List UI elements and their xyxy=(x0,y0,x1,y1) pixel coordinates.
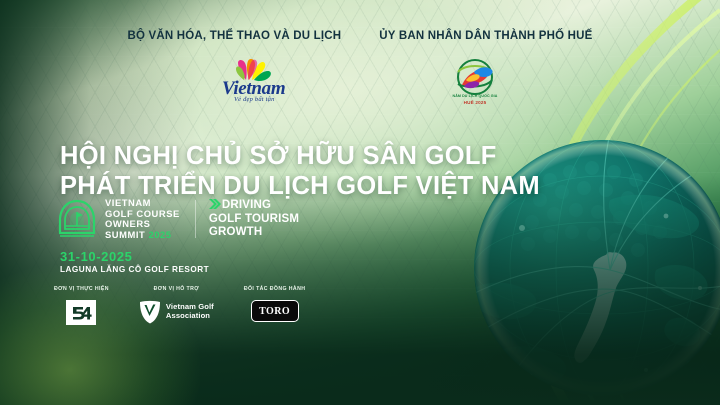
sponsor-group-organizer: ĐƠN VỊ THỰC HIỆN xyxy=(54,286,109,325)
vietnam-tourism-logo: Vietnam Vẻ đẹp bất tận xyxy=(214,58,314,106)
sponsor-section: ĐƠN VỊ THỰC HIỆN ĐƠN VỊ HỖ TRỢ Vietnam G… xyxy=(54,286,305,325)
event-tagline: DRIVING GOLF TOURISM GROWTH xyxy=(209,199,299,239)
organizer-logos: Vietnam Vẻ đẹp bất tận NĂM DU LỊCH QUỐC … xyxy=(0,58,720,110)
hue-logo-line2: HUẾ 2025 xyxy=(444,100,506,105)
golf-flag-arch-emblem xyxy=(58,199,96,239)
vga-shield-icon xyxy=(139,300,161,324)
event-poster: BỘ VĂN HÓA, THỂ THAO VÀ DU LỊCH ỦY BAN N… xyxy=(0,0,720,405)
sponsor-group-partner: ĐỐI TÁC ĐỒNG HÀNH TORO xyxy=(244,286,306,325)
tagline-line-1: DRIVING xyxy=(222,199,271,211)
vga-wordmark: Vietnam Golf Association xyxy=(166,303,214,320)
tagline-line-3: GROWTH xyxy=(209,226,299,239)
tagline-line-2: GOLF TOURISM xyxy=(209,213,299,226)
hue-logo-line1: NĂM DU LỊCH QUỐC GIA xyxy=(444,94,506,98)
sponsor-label-organizer: ĐƠN VỊ THỰC HIỆN xyxy=(54,286,109,292)
page-title: HỘI NGHỊ CHỦ SỞ HỮU SÂN GOLF PHÁT TRIỂN … xyxy=(60,142,540,202)
vietnam-golf-association-logo: Vietnam Golf Association xyxy=(139,300,214,324)
toro-logo: TORO xyxy=(251,300,299,322)
title-line-1: HỘI NGHỊ CHỦ SỞ HỮU SÂN GOLF xyxy=(60,142,540,172)
summit-lockup: VIETNAM GOLF COURSE OWNERS SUMMIT 2025 D… xyxy=(58,198,299,241)
toro-wordmark: TORO xyxy=(259,306,290,317)
lockup-divider xyxy=(195,200,196,238)
event-venue: LAGUNA LĂNG CÔ GOLF RESORT xyxy=(60,265,209,274)
hue-national-tourism-year-logo: NĂM DU LỊCH QUỐC GIA HUẾ 2025 xyxy=(444,58,506,110)
ministry-name: BỘ VĂN HÓA, THỂ THAO VÀ DU LỊCH xyxy=(127,30,341,42)
organizer-header: BỘ VĂN HÓA, THỂ THAO VÀ DU LỊCH ỦY BAN N… xyxy=(0,30,720,42)
summit-wordmark: VIETNAM GOLF COURSE OWNERS SUMMIT 2025 xyxy=(105,198,180,241)
vga-line-2: Association xyxy=(166,312,214,321)
hue-committee-name: ỦY BAN NHÂN DÂN THÀNH PHỐ HUẾ xyxy=(379,30,592,42)
summit-line-4: SUMMIT xyxy=(105,229,145,240)
tagline-line-1-row: DRIVING xyxy=(209,199,299,213)
fiftyfour-logo xyxy=(66,300,96,325)
sponsor-group-support: ĐƠN VỊ HỖ TRỢ Vietnam Golf Association xyxy=(139,286,214,325)
sponsor-label-support: ĐƠN VỊ HỖ TRỢ xyxy=(154,286,199,292)
event-date: 31-10-2025 xyxy=(60,249,133,264)
summit-year: 2025 xyxy=(148,229,171,240)
vietnam-tagline: Vẻ đẹp bất tận xyxy=(234,96,275,103)
sponsor-label-partner: ĐỐI TÁC ĐỒNG HÀNH xyxy=(244,286,306,292)
chevron-right-icon xyxy=(209,199,221,213)
summit-line-4-row: SUMMIT 2025 xyxy=(105,230,180,241)
